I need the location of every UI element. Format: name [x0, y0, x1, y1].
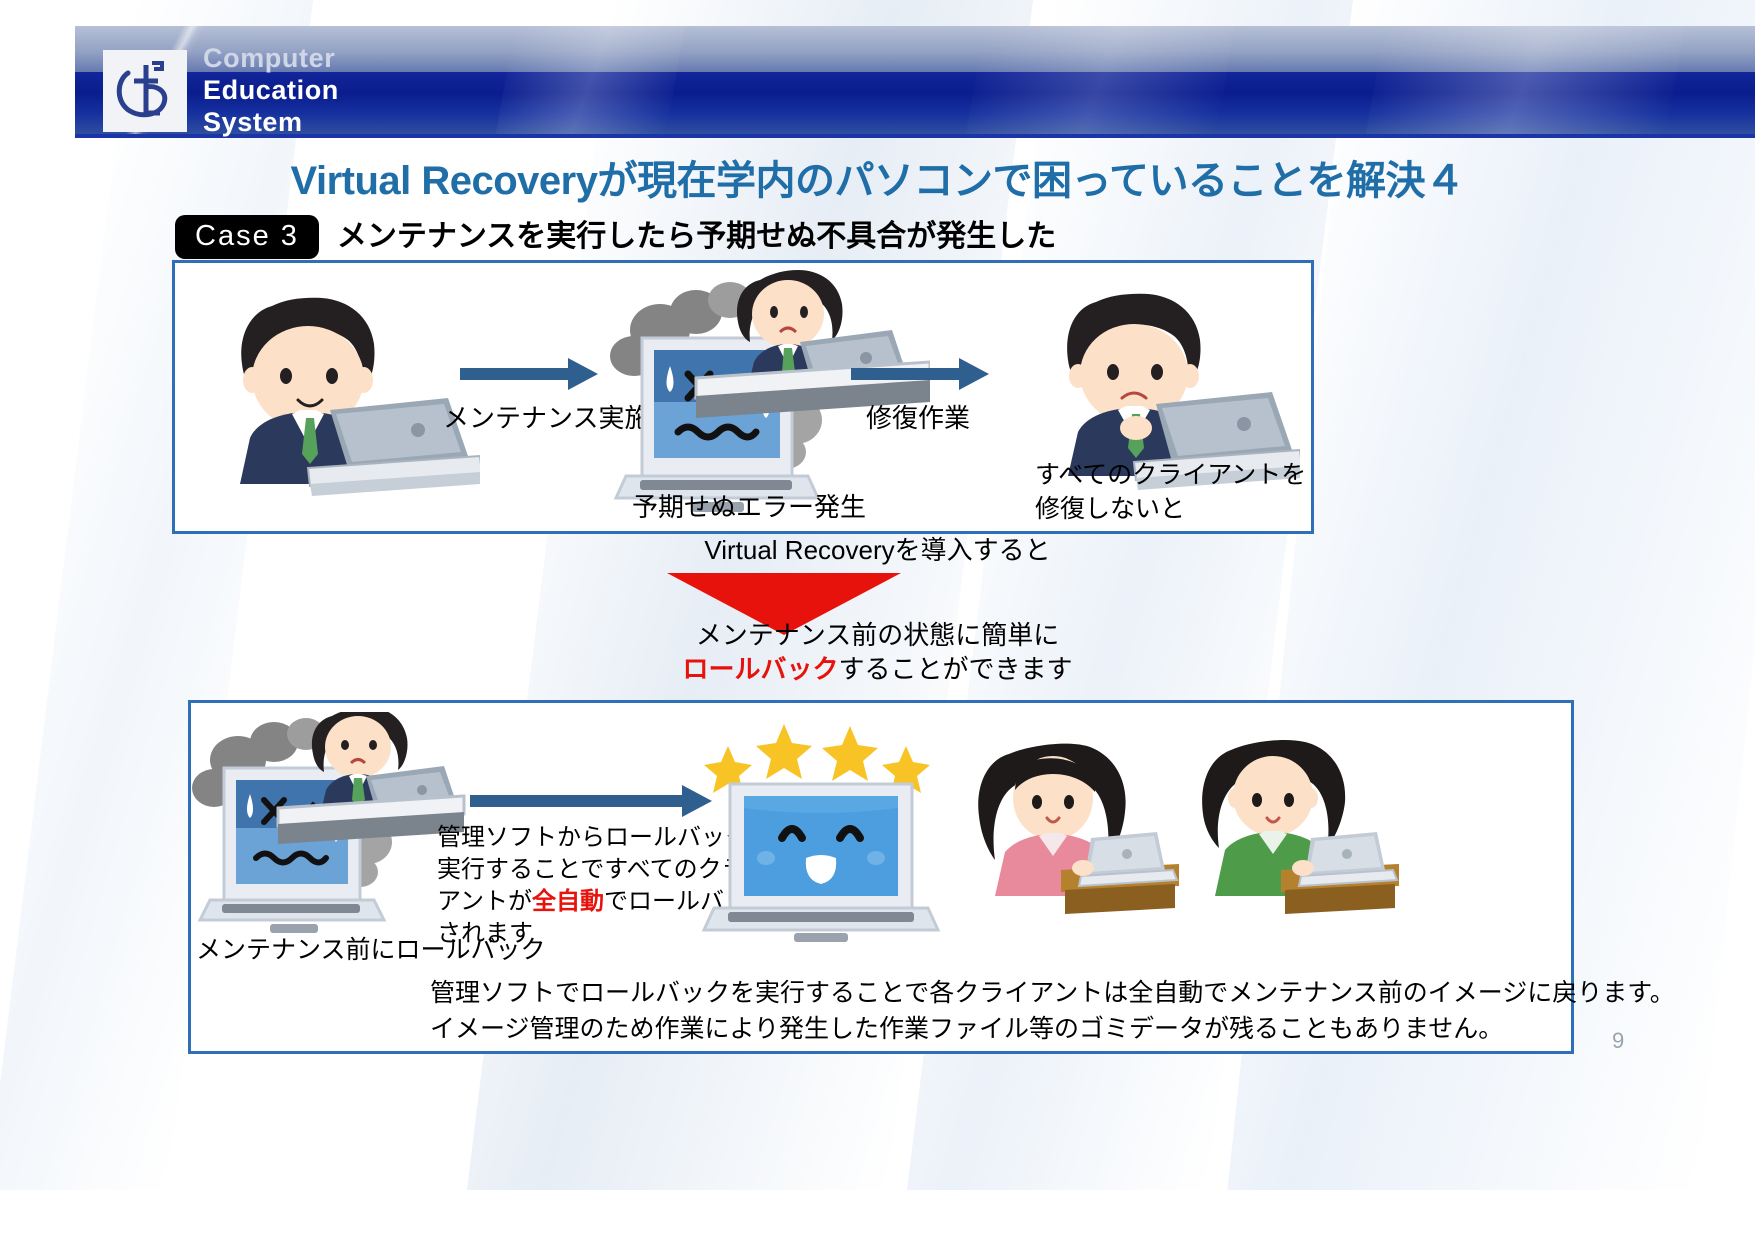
logo-line-system: System	[203, 106, 623, 138]
slide-header: Computer Education System	[75, 26, 1755, 138]
note-line1: 管理ソフトでロールバックを実行することで各クライアントは全自動でメンテナンス前の…	[430, 975, 1675, 1011]
ces-logo-text: Computer Education System	[203, 42, 623, 138]
case-badge: Case 3	[175, 215, 319, 259]
ces-logo-icon	[103, 50, 187, 132]
rollback-highlight: ロールバック	[682, 654, 838, 684]
figure-male-student-at-laptop	[1185, 720, 1405, 920]
caption-all-clients-line1: すべてのクライアントを	[1035, 455, 1306, 491]
figure-crying-laptop-with-smoke	[600, 270, 930, 520]
logo-line-education: Education	[203, 74, 623, 106]
result-line1: メンテナンス前の状態に簡単に	[0, 618, 1755, 652]
page-number: 9	[1612, 1028, 1624, 1054]
line3-pre: アントが	[437, 888, 532, 915]
auto-highlight: 全自動	[532, 888, 604, 915]
middle-result-text: メンテナンス前の状態に簡単に ロールバックすることができます	[0, 618, 1755, 686]
figure-female-student-at-laptop	[965, 720, 1185, 920]
slide-canvas: Computer Education System Virtual Recove…	[0, 0, 1755, 1240]
solution-note: 管理ソフトでロールバックを実行することで各クライアントは全自動でメンテナンス前の…	[430, 975, 1675, 1047]
page-title: Virtual Recoveryが現在学内のパソコンで困っていることを解決４	[0, 148, 1755, 206]
figure-businessman-at-laptop-normal	[180, 278, 480, 508]
result-line2: ロールバックすることができます	[0, 652, 1755, 686]
result-line2-rest: することができます	[839, 654, 1073, 684]
figure-happy-laptop-with-sparkles	[690, 712, 950, 942]
logo-line-computer: Computer	[203, 42, 623, 74]
caption-all-clients-line2: 修復しないと	[1035, 489, 1185, 525]
arrow2-label: 修復作業	[866, 398, 970, 435]
caption-unexpected-error: 予期せぬエラー発生	[632, 487, 866, 524]
note-line2: イメージ管理のため作業により発生した作業ファイル等のゴミデータが残ることもありま…	[430, 1011, 1675, 1047]
case-subtitle: メンテナンスを実行したら予期せぬ不具合が発生した	[337, 220, 1056, 254]
middle-intro-text: Virtual Recoveryを導入すると	[0, 530, 1755, 567]
case-header-row: Case 3 メンテナンスを実行したら予期せぬ不具合が発生した	[175, 215, 1056, 259]
